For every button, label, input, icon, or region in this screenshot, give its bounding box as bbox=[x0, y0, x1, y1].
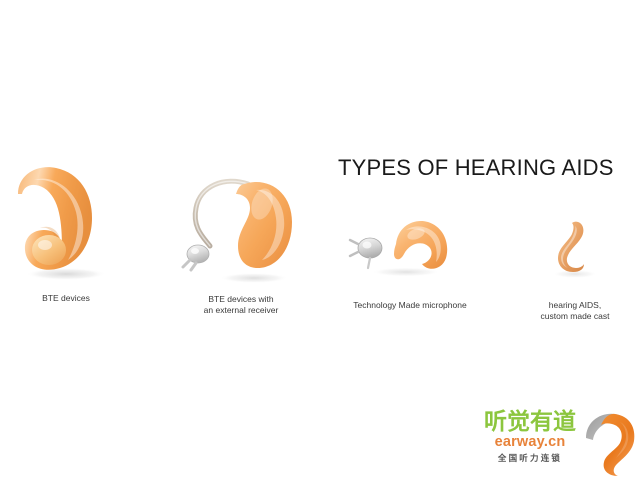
device-figure-bte-external-receiver: BTE devices with an external receiver bbox=[176, 168, 306, 315]
in-ear-microphone-icon bbox=[344, 214, 476, 280]
device-caption-bte-external-receiver: BTE devices with an external receiver bbox=[176, 294, 306, 315]
device-figure-microphone: Technology Made microphone bbox=[344, 214, 476, 311]
device-caption-bte: BTE devices bbox=[4, 293, 128, 304]
device-caption-custom-earmold: hearing AIDS, custom made cast bbox=[520, 300, 630, 321]
bte-external-receiver-hearing-aid-icon bbox=[176, 168, 306, 286]
poster-canvas: TYPES OF HEARING AIDS bbox=[0, 0, 640, 480]
brand-tagline: 全国听力连锁 bbox=[478, 454, 582, 463]
bte-hearing-aid-icon bbox=[4, 158, 128, 283]
brand-logo-text: 听觉有道 earway.cn 全国听力连锁 bbox=[478, 410, 582, 462]
device-figure-bte: BTE devices bbox=[4, 158, 128, 304]
device-figure-custom-earmold: hearing AIDS, custom made cast bbox=[520, 218, 630, 321]
page-title: TYPES OF HEARING AIDS bbox=[338, 155, 618, 181]
ear-swoosh-logo-mark bbox=[582, 408, 638, 478]
brand-logo[interactable]: 听觉有道 earway.cn 全国听力连锁 bbox=[478, 408, 638, 480]
device-caption-microphone: Technology Made microphone bbox=[344, 300, 476, 311]
brand-name-chinese: 听觉有道 bbox=[478, 410, 582, 433]
custom-earmold-icon bbox=[520, 218, 630, 280]
brand-name-latin: earway.cn bbox=[478, 435, 582, 450]
